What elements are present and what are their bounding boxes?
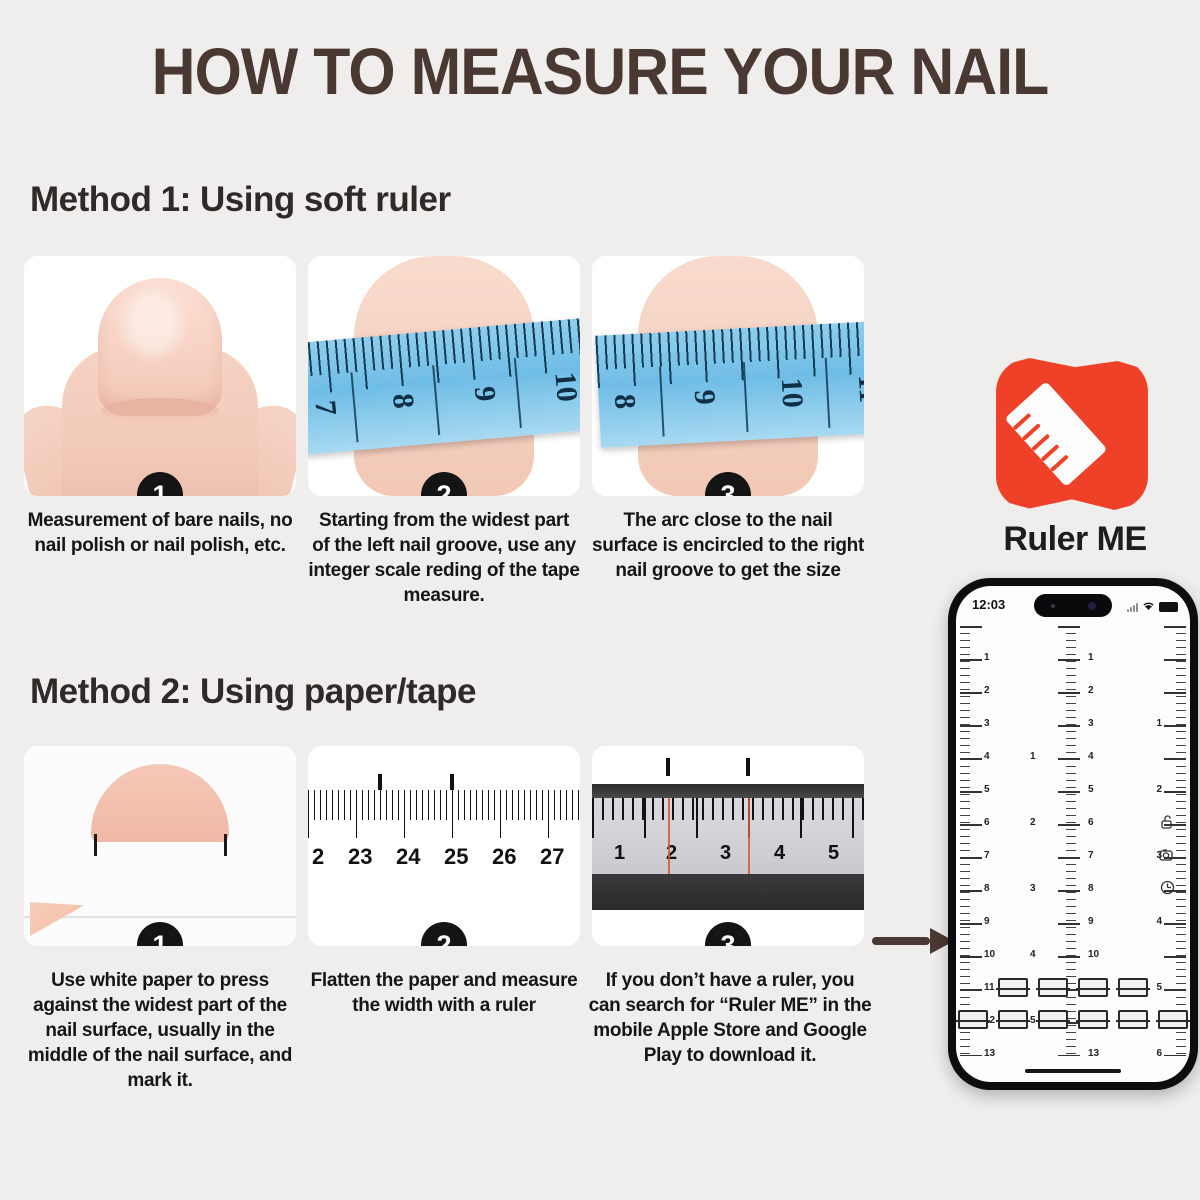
tape-number: 8: [385, 392, 420, 410]
nail-chip[interactable]: [998, 1010, 1028, 1029]
method-2-step-3-caption: If you don’t have a ruler, you can searc…: [588, 968, 872, 1068]
scale-label: 9: [984, 916, 990, 927]
scale-inner-label: 1: [1030, 751, 1036, 762]
scale-label: 14: [1088, 1081, 1099, 1082]
tape-number: 10: [774, 377, 810, 409]
scale-label: 3: [984, 718, 990, 729]
method-2-step-2-card: 2 23 24 25 26 27 2: [308, 746, 580, 946]
ruler-number: 2: [312, 844, 324, 870]
scale-label: 10: [984, 949, 995, 960]
page-title: HOW TO MEASURE YOUR NAIL: [48, 36, 1152, 106]
scale-label: 8: [984, 883, 990, 894]
ruler-number: 23: [348, 844, 372, 870]
ruler-number: 5: [828, 842, 839, 865]
nail-chip[interactable]: [998, 978, 1028, 997]
unlock-icon[interactable]: [1160, 814, 1175, 830]
ruler-number: 1: [614, 842, 625, 865]
ruler-number: 24: [396, 844, 420, 870]
scale-label: 2: [1088, 685, 1094, 696]
nail-chip[interactable]: [1038, 1010, 1068, 1029]
tape-number: 7: [308, 399, 343, 417]
ruler-number: 3: [720, 842, 731, 865]
nail-chip[interactable]: [1078, 978, 1108, 997]
scale-label: 9: [1088, 916, 1094, 927]
battery-icon: [1159, 602, 1178, 612]
nail-chip[interactable]: [1038, 978, 1068, 997]
scale-label: 5: [1088, 784, 1094, 795]
ruler-me-app-icon[interactable]: [996, 358, 1148, 510]
ruler-number: 4: [774, 842, 785, 865]
method-1-step-1-card: 1: [24, 256, 296, 496]
method-2-step-1-caption: Use white paper to press against the wid…: [24, 968, 296, 1093]
scale-label: 14: [984, 1081, 995, 1082]
scale-label: 7: [984, 850, 990, 861]
scale-label: 10: [1088, 949, 1099, 960]
method-1-step-3-card: 8 9 10 11 3: [592, 256, 864, 496]
scale-label: 2: [984, 685, 990, 696]
method-2-step-3-card: 1 2 3 4 5 3: [592, 746, 864, 946]
scale-label: 1: [984, 652, 990, 663]
scale-label: 5: [984, 784, 990, 795]
tape-wrapped-photo: 8 9 10 11 3: [592, 256, 864, 496]
ruler-number: 26: [492, 844, 516, 870]
method-1-step-1-caption: Measurement of bare nails, no nail polis…: [24, 508, 296, 558]
nail-chip[interactable]: [1118, 1010, 1148, 1029]
camera-icon[interactable]: [1159, 848, 1176, 862]
method-1-step-3-caption: The arc close to the nail surface is enc…: [592, 508, 864, 583]
scale-label: 7: [1088, 850, 1094, 861]
method-2-step-1-card: 1: [24, 746, 296, 946]
tape-number: 9: [687, 389, 722, 406]
scale-label: 4: [984, 751, 990, 762]
bare-nail-photo: 1: [24, 256, 296, 496]
nail-on-paper-photo: 1: [24, 746, 296, 946]
nail-chip-row-bottom: [956, 1010, 1190, 1029]
method-2-step-2-caption: Flatten the paper and measure the width …: [308, 968, 580, 1018]
paper-ruler-photo: 2 23 24 25 26 27 2: [308, 746, 580, 946]
status-bar-time: 12:03: [972, 597, 1005, 612]
tape-number: 11: [851, 374, 864, 404]
scale-label: 8: [1088, 883, 1094, 894]
scale-inner-label: 3: [1030, 883, 1036, 894]
timer-icon[interactable]: [1160, 880, 1175, 895]
method-2-card-row: 1 2 23 24 25 26: [24, 746, 864, 946]
ruler-app-screen[interactable]: 12:03 1 2 3 4: [956, 586, 1190, 1082]
phone-mockup: 12:03 1 2 3 4: [948, 578, 1198, 1090]
right-arrow-icon: [872, 928, 954, 954]
app-name-label: Ruler ME: [960, 520, 1190, 559]
tape-number: 8: [607, 393, 642, 410]
method-1-step-2-card: 7 8 9 10 2: [308, 256, 580, 496]
nail-chip[interactable]: [1158, 1010, 1188, 1029]
nail-chip-row-top: [956, 978, 1190, 997]
method-1-step-2-caption: Starting from the widest part of the lef…: [308, 508, 580, 608]
scale-label: 1: [1156, 718, 1162, 729]
tape-number: 9: [467, 385, 502, 403]
ruler-app-tool-icons: [1159, 814, 1176, 895]
tape-number: 10: [547, 370, 580, 403]
scale-label: 4: [1156, 916, 1162, 927]
scale-label: 13: [984, 1048, 995, 1059]
method-1-heading: Method 1: Using soft ruler: [30, 180, 451, 220]
nail-chip[interactable]: [1078, 1010, 1108, 1029]
scale-label: 4: [1088, 751, 1094, 762]
ruler-number: 25: [444, 844, 468, 870]
dynamic-island: [1034, 594, 1112, 617]
infographic-page: HOW TO MEASURE YOUR NAIL Method 1: Using…: [0, 0, 1200, 1200]
method-1-card-row: 1 7 8 9 10: [24, 256, 864, 496]
metal-ruler-photo: 1 2 3 4 5 3: [592, 746, 864, 946]
wifi-icon: [1142, 598, 1155, 616]
scale-label: 6: [1156, 1048, 1162, 1059]
tape-measure-photo: 7 8 9 10 2: [308, 256, 580, 496]
nail-chip[interactable]: [1118, 978, 1148, 997]
method-2-heading: Method 2: Using paper/tape: [30, 672, 476, 712]
scale-label: 13: [1088, 1048, 1099, 1059]
scale-label: 2: [1156, 784, 1162, 795]
scale-label: 1: [1088, 652, 1094, 663]
ruler-number: 27: [540, 844, 564, 870]
scale-label: 6: [1088, 817, 1094, 828]
scale-label: 6: [984, 817, 990, 828]
nail-chip[interactable]: [958, 1010, 988, 1029]
home-indicator: [1025, 1069, 1121, 1073]
status-bar-indicators: [1127, 598, 1178, 616]
signal-icon: [1127, 603, 1138, 612]
scale-inner-label: 4: [1030, 949, 1036, 960]
scale-label: 3: [1088, 718, 1094, 729]
scale-inner-label: 2: [1030, 817, 1036, 828]
